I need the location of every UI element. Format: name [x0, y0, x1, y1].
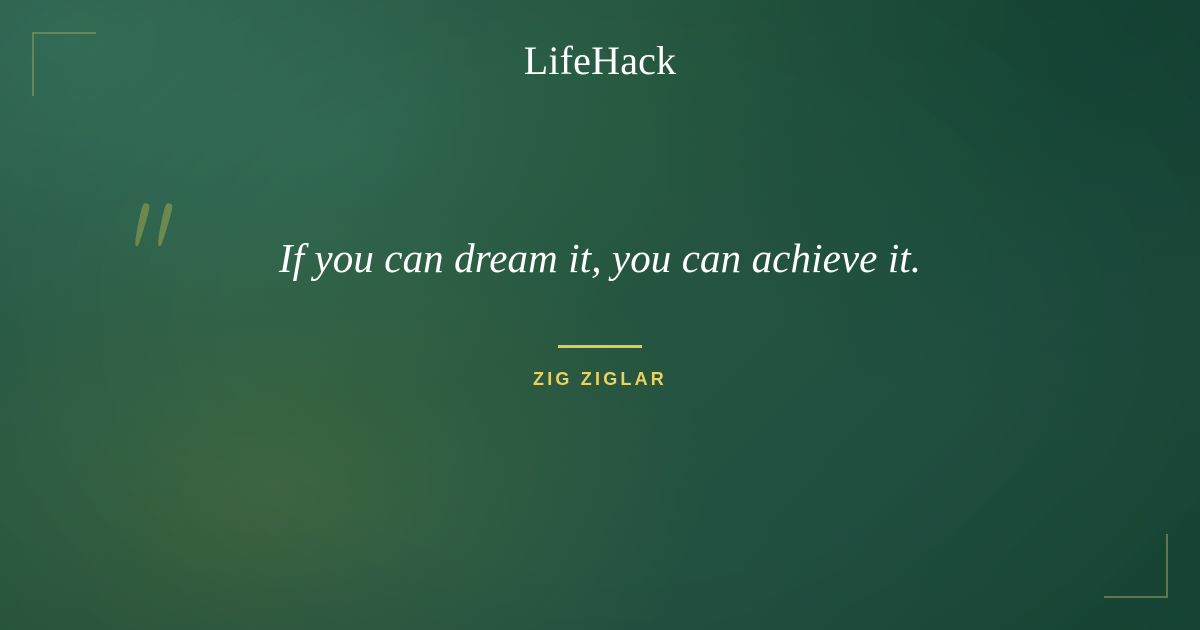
quote-block: If you can dream it, you can achieve it.…	[0, 0, 1200, 630]
quote-author: ZIG ZIGLAR	[533, 369, 667, 390]
quote-text: If you can dream it, you can achieve it.	[279, 232, 921, 284]
quote-card: LifeHack If you can dream it, you can ac…	[0, 0, 1200, 630]
quote-divider	[558, 345, 642, 348]
